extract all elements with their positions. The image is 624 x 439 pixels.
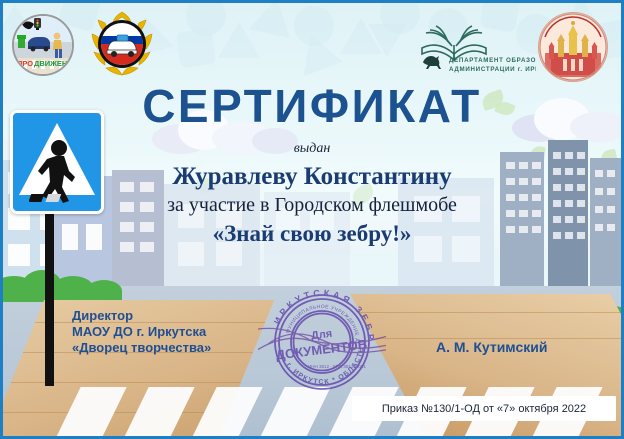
svg-text:МУНИЦИПАЛЬНОЕ УЧРЕЖДЕНИЕ ДВОРЕ: МУНИЦИПАЛЬНОЕ УЧРЕЖДЕНИЕ ДВОРЕЦ ТВОРЧЕСТ… <box>258 278 360 342</box>
award-reason: за участие в Городском флешмобе <box>0 194 624 217</box>
svg-text:ИНН 3812 · КПП 381201001: ИНН 3812 · КПП 381201001 <box>308 364 366 369</box>
recipient-name: Журавлеву Константину <box>0 163 624 191</box>
svg-text:АДМИНИСТРАЦИИ г. ИРКУТСКА: АДМИНИСТРАЦИИ г. ИРКУТСКА <box>449 66 536 73</box>
svg-text:ДЕПАРТАМЕНТ ОБРАЗОВАНИЯ: ДЕПАРТАМЕНТ ОБРАЗОВАНИЯ <box>449 57 536 64</box>
signer-org-line3: «Дворец творчества» <box>72 340 211 356</box>
signer-role-line1: Директор <box>72 308 211 324</box>
signer-org-line2: МАОУ ДО г. Иркутска <box>72 324 211 340</box>
certificate-page: ПРО ДВИЖЕНИЕ <box>0 0 624 439</box>
prodvizhenie-logo: ПРО ДВИЖЕНИЕ <box>12 14 74 76</box>
department-of-education-logo: ДЕПАРТАМЕНТ ОБРАЗОВАНИЯ АДМИНИСТРАЦИИ г.… <box>418 22 536 78</box>
order-reference-box: Приказ №130/1-ОД от «7» октября 2022 <box>352 396 616 421</box>
palace-of-creativity-emblem <box>538 12 608 82</box>
signature-block: Директор МАОУ ДО г. Иркутска «Дворец тво… <box>72 308 211 356</box>
event-name: «Знай свою зебру!» <box>0 221 624 247</box>
official-round-stamp: ИРКУТСКАЯ ЗЕБРА г. ИРКУТСК * ОБЛАСТЬ * М… <box>258 278 386 406</box>
order-reference-text: Приказ №130/1-ОД от «7» октября 2022 <box>382 403 586 415</box>
gibdd-emblem <box>88 10 156 78</box>
awarded-label: выдан <box>0 141 624 157</box>
certificate-title: СЕРТИФИКАТ <box>0 79 624 133</box>
signer-name: А. М. Кутимский <box>436 339 547 355</box>
